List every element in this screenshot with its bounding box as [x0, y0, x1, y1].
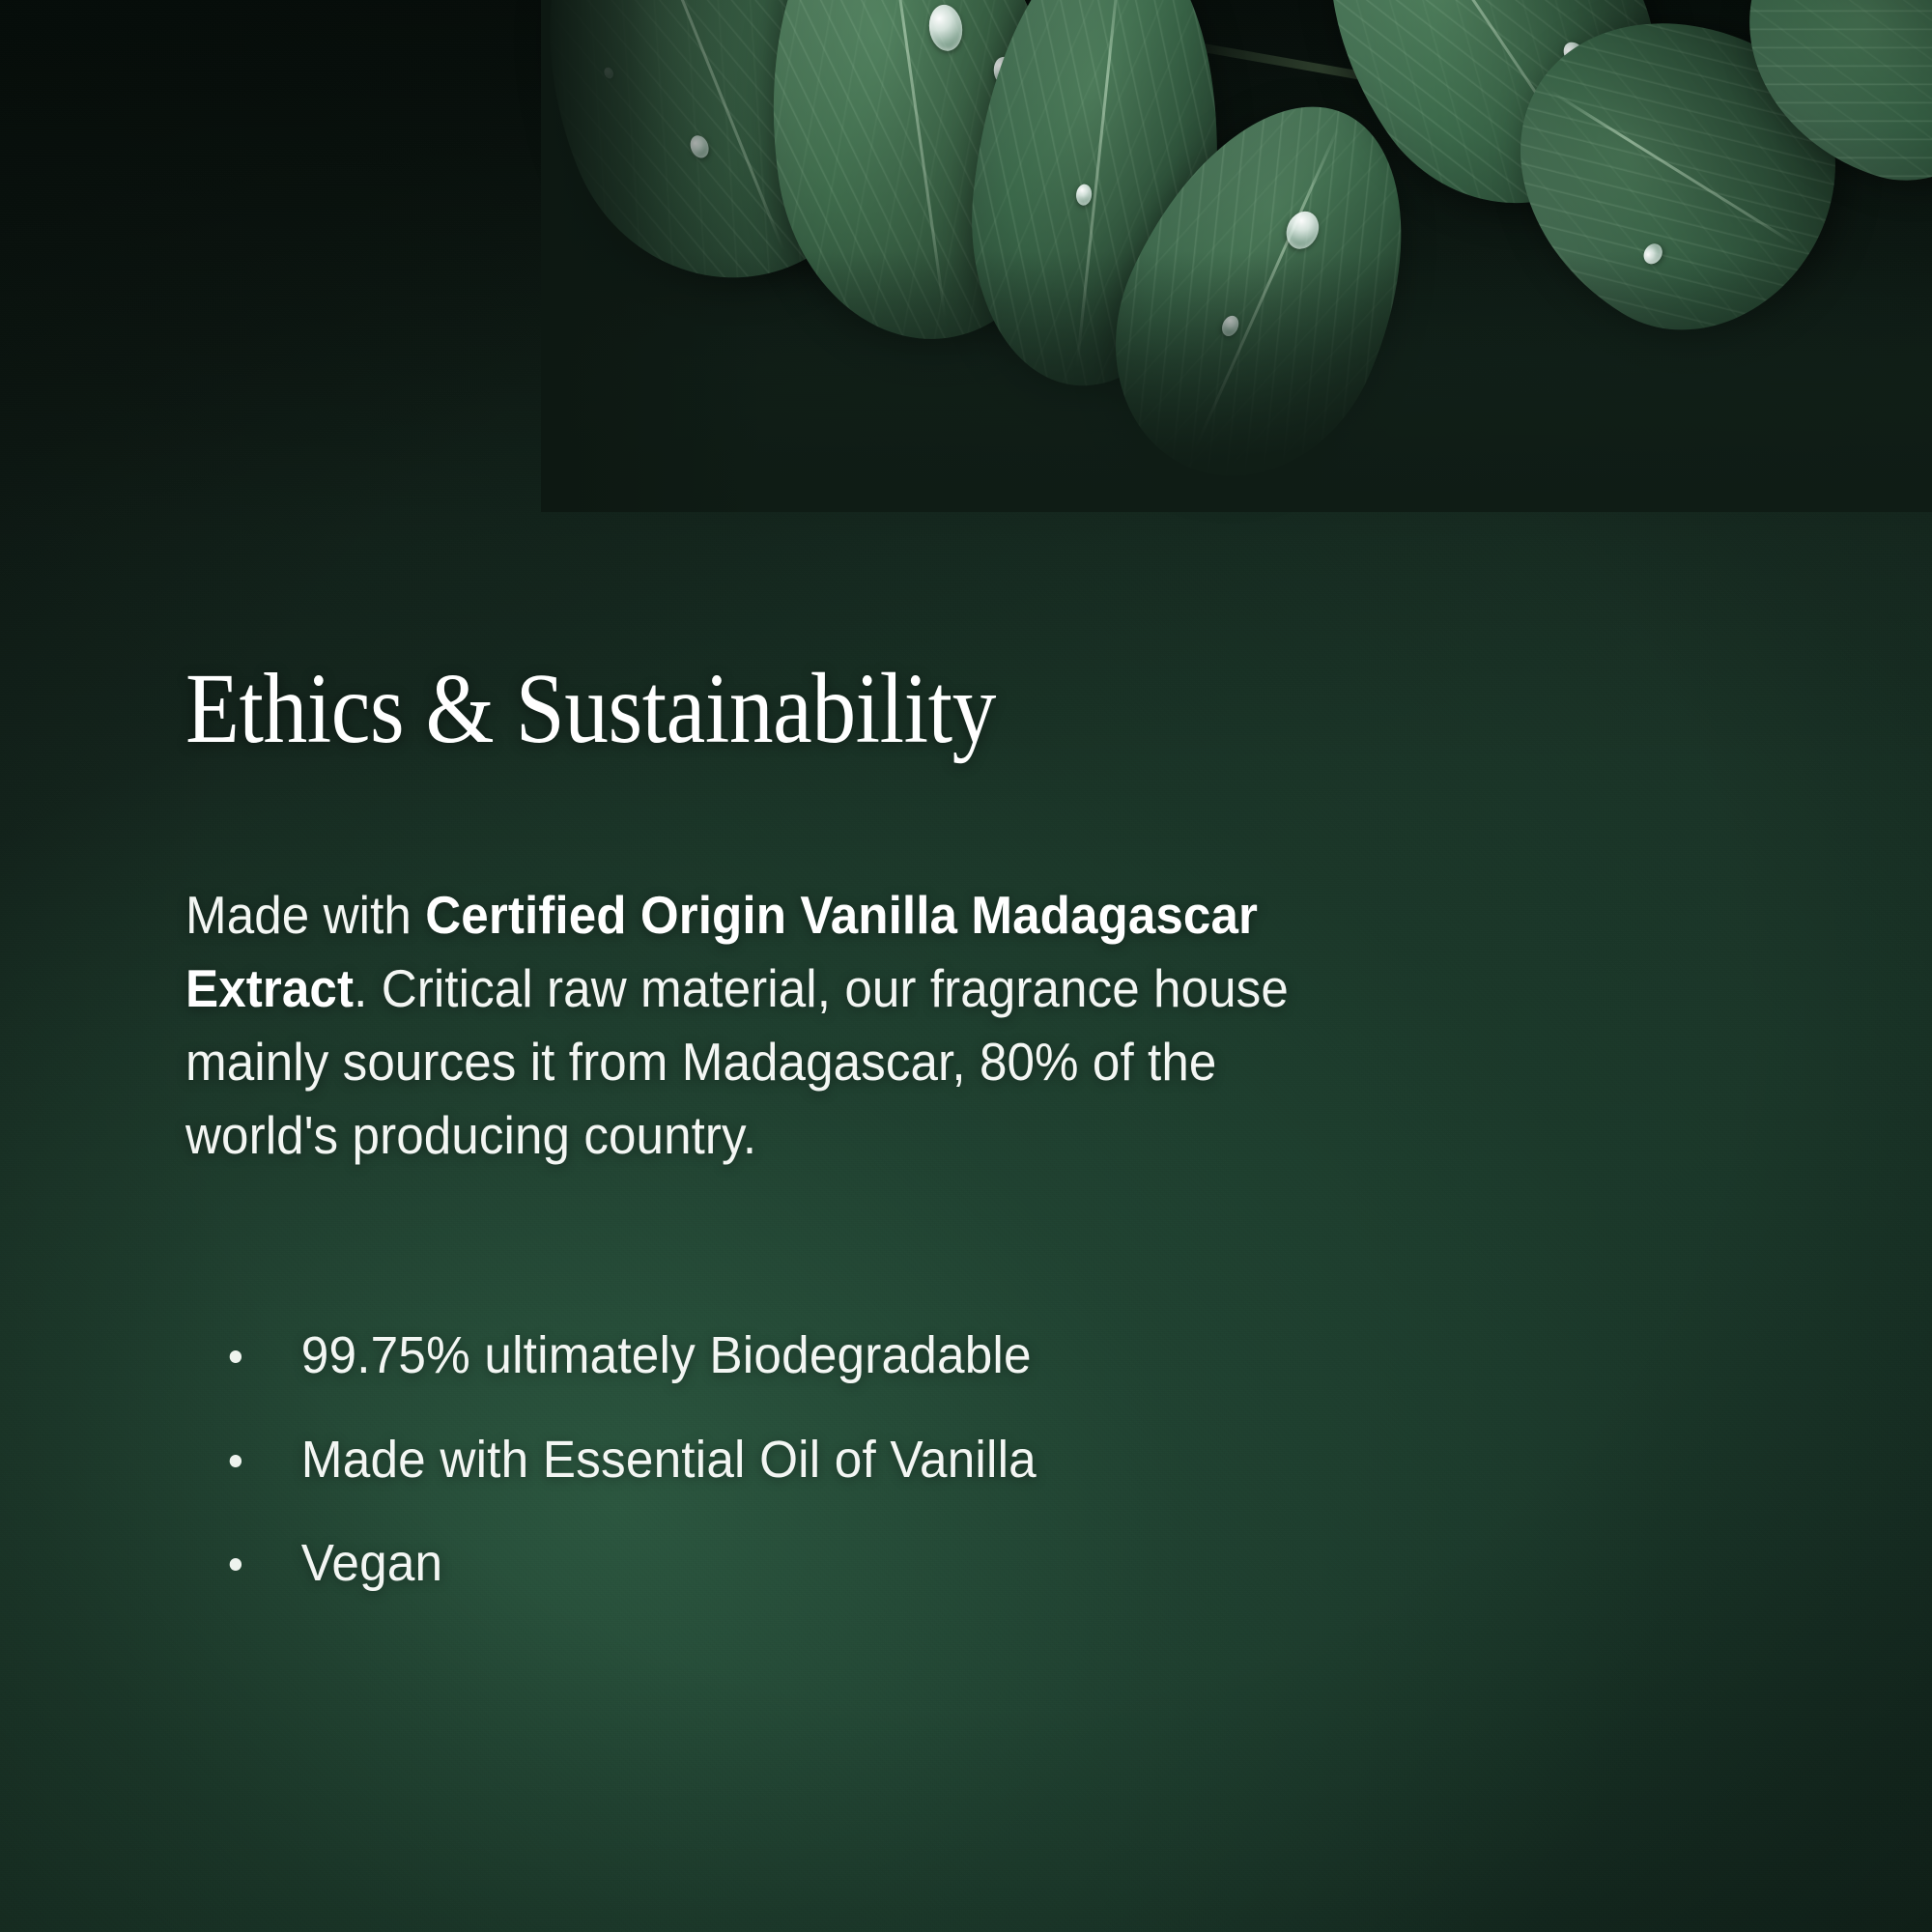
list-item-label: Made with Essential Oil of Vanilla [301, 1431, 1037, 1489]
list-item: Vegan [224, 1533, 1509, 1595]
page-title: Ethics & Sustainability [185, 659, 996, 759]
bullet-dot-icon [230, 1455, 241, 1467]
bullet-dot-icon [230, 1558, 241, 1571]
bullet-dot-icon [230, 1350, 241, 1363]
body-lead-plain: Made with [185, 885, 425, 945]
list-item-label: 99.75% ultimately Biodegradable [301, 1326, 1032, 1384]
page-root: Ethics & Sustainability Made with Certif… [0, 0, 1932, 1932]
list-item-label: Vegan [301, 1534, 442, 1592]
body-paragraph: Made with Certified Origin Vanilla Madag… [185, 879, 1335, 1173]
list-item: Made with Essential Oil of Vanilla [224, 1430, 1509, 1492]
list-item: 99.75% ultimately Biodegradable [224, 1325, 1509, 1387]
claims-list: 99.75% ultimately Biodegradable Made wit… [224, 1325, 1577, 1637]
content-block: Ethics & Sustainability Made with Certif… [185, 0, 1750, 1932]
